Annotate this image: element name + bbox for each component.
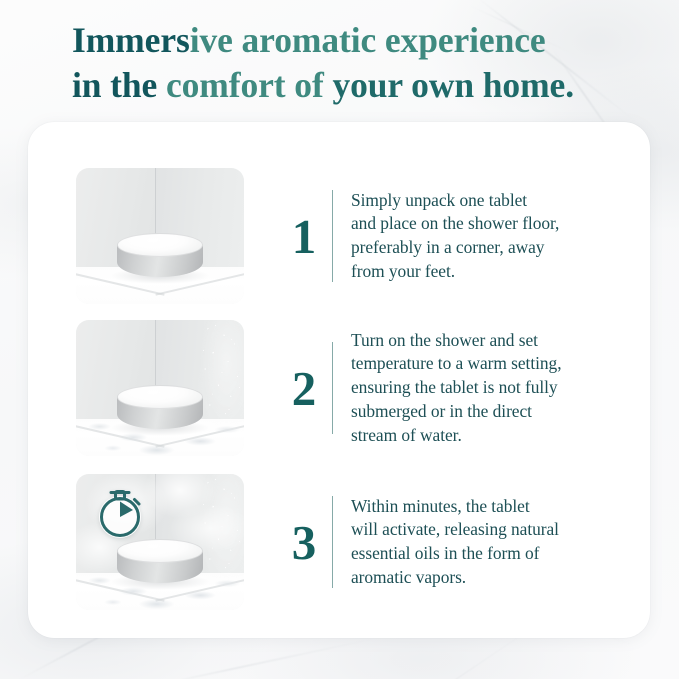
step-2-image <box>76 320 244 456</box>
step-text-line: aromatic vapors. <box>351 566 618 590</box>
step-1-image <box>76 168 244 304</box>
step-text-line: preferably in a corner, away <box>351 236 618 260</box>
headline-line-1: Immersive aromatic experience <box>72 18 639 63</box>
shower-tablet <box>117 539 203 583</box>
step-text-line: submerged or in the direct <box>351 400 618 424</box>
shower-tablet <box>117 385 203 429</box>
headline-line-2: in the comfort of your own home. <box>72 63 639 108</box>
step-text-line: Turn on the shower and set <box>351 329 618 353</box>
step-number: 1 <box>278 212 330 261</box>
step-row: 3 Within minutes, the tablet will activa… <box>76 474 618 610</box>
instructions-card: 1 Simply unpack one tablet and place on … <box>28 122 650 638</box>
headline-line1-light: ive aromatic experience <box>190 20 546 60</box>
step-divider <box>332 342 333 434</box>
step-text-line: Simply unpack one tablet <box>351 189 618 213</box>
page-headline: Immersive aromatic experience in the com… <box>72 18 639 109</box>
step-number: 3 <box>278 518 330 567</box>
step-text-line: stream of water. <box>351 424 618 448</box>
tablet-top <box>117 233 203 257</box>
step-divider <box>332 190 333 282</box>
step-text-line: Within minutes, the tablet <box>351 495 618 519</box>
headline-line2-light: comfort of <box>166 65 324 105</box>
shower-tablet <box>117 233 203 277</box>
step-text-line: essential oils in the form of <box>351 542 618 566</box>
step-number: 2 <box>278 364 330 413</box>
headline-line2-end: your own home. <box>324 65 574 105</box>
step-row: 2 Turn on the shower and set temperature… <box>76 320 618 456</box>
step-text-line: ensuring the tablet is not fully <box>351 376 618 400</box>
step-divider <box>332 496 333 588</box>
steps-list: 1 Simply unpack one tablet and place on … <box>28 122 650 638</box>
step-text-line: will activate, releasing natural <box>351 518 618 542</box>
step-description: Simply unpack one tablet and place on th… <box>351 189 618 284</box>
headline-line2-dark: in the <box>72 65 166 105</box>
headline-line1-dark: Immers <box>72 20 190 60</box>
step-row: 1 Simply unpack one tablet and place on … <box>76 168 618 304</box>
step-text-line: from your feet. <box>351 260 618 284</box>
step-text-line: and place on the shower floor, <box>351 212 618 236</box>
tablet-top <box>117 385 203 409</box>
step-description: Within minutes, the tablet will activate… <box>351 495 618 590</box>
step-text-line: temperature to a warm setting, <box>351 352 618 376</box>
marble-vein <box>152 637 377 679</box>
step-3-image <box>76 474 244 610</box>
stopwatch-icon <box>93 484 147 540</box>
tablet-top <box>117 539 203 563</box>
step-description: Turn on the shower and set temperature t… <box>351 329 618 448</box>
